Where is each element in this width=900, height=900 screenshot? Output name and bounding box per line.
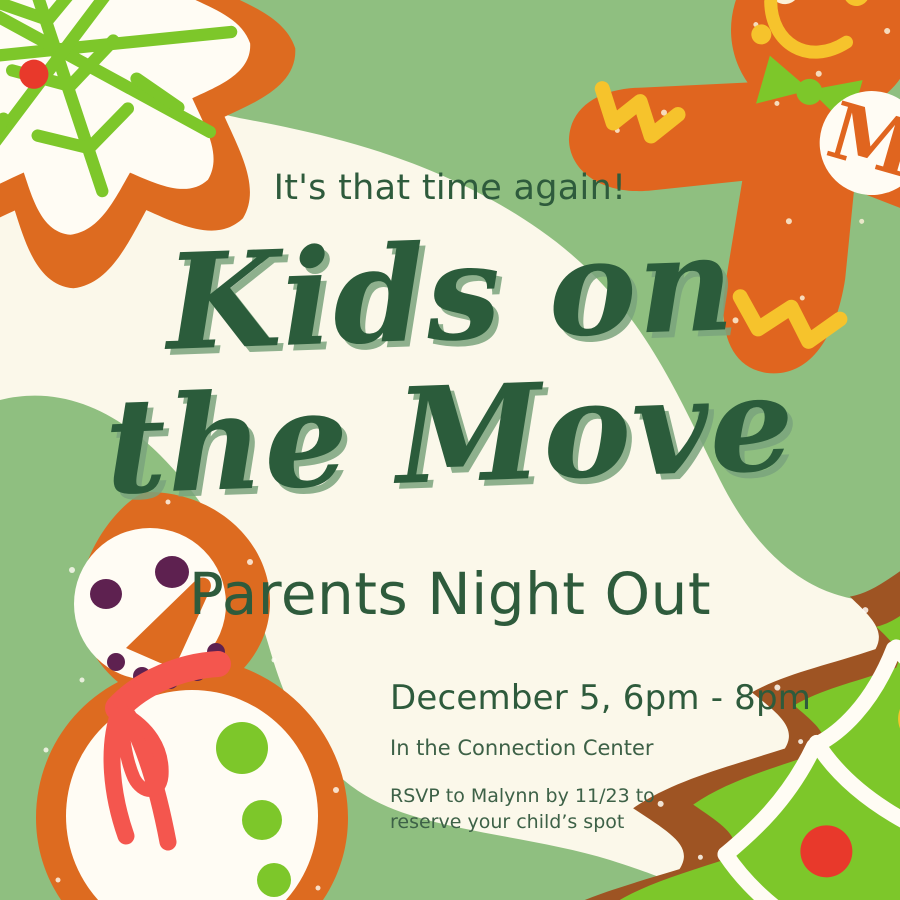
event-title-line-2: the Move — [103, 358, 797, 514]
text-layer: It's that time again! Kids on the Move P… — [0, 0, 900, 900]
tagline: It's that time again! — [0, 168, 900, 208]
event-location: In the Connection Center — [390, 736, 810, 760]
title-line-2-wrapper: the Move — [0, 370, 900, 502]
event-date-time: December 5, 6pm - 8pm — [390, 678, 810, 718]
event-subtitle: Parents Night Out — [0, 560, 900, 628]
holiday-event-flyer: M — [0, 0, 900, 900]
event-rsvp-note: RSVP to Malynn by 11/23 to reserve your … — [390, 784, 660, 835]
rsvp-line-1: RSVP to Malynn by 11/23 to — [390, 784, 660, 810]
event-details-block: December 5, 6pm - 8pm In the Connection … — [390, 678, 810, 835]
event-title-line-1: Kids on — [164, 218, 737, 370]
title-line-1-wrapper: Kids on — [0, 228, 900, 360]
rsvp-line-2: reserve your child’s spot — [390, 810, 660, 836]
